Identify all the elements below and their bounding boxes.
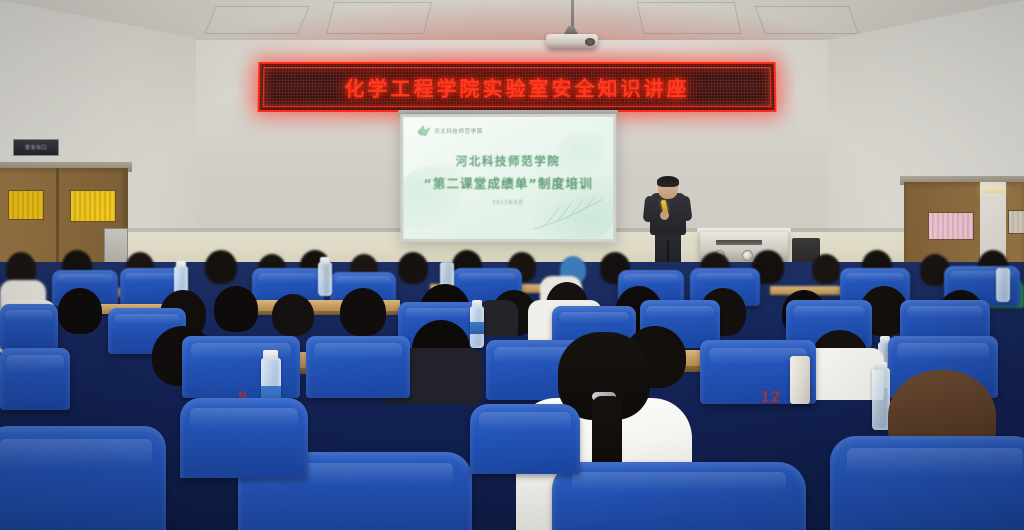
slide-logo-text: 河北科技师范学院	[434, 127, 483, 135]
auditorium-seat[interactable]	[0, 426, 166, 530]
auditorium-seat[interactable]	[180, 398, 308, 478]
right-side-glass-panel	[1008, 210, 1024, 234]
slide-title-line1: 河北科技师范学院	[403, 153, 613, 169]
water-bottle	[318, 262, 332, 296]
presenter-hand	[660, 211, 669, 220]
lectern-equipment-slot	[716, 240, 762, 245]
auditorium-seat[interactable]	[830, 436, 1024, 530]
lectern-knob	[742, 250, 753, 261]
student-head	[272, 294, 314, 336]
thermos-cup	[790, 356, 810, 404]
bottle-cap	[472, 300, 482, 307]
bottle-cap	[874, 362, 887, 370]
student-body	[478, 300, 518, 336]
slide-date: 2023年6月	[403, 199, 613, 206]
auditorium-seat[interactable]	[470, 404, 580, 474]
projection-screen: 河北科技师范学院 河北科技师范学院 “第二课堂成绩单”制度培训 2023年6月	[400, 114, 616, 242]
student-head	[398, 252, 428, 284]
right-door-glass-panel	[928, 212, 974, 240]
seat-number-12: 12	[760, 388, 781, 406]
slide-title-block: 河北科技师范学院 “第二课堂成绩单”制度培训	[403, 153, 613, 192]
exit-sign: 安全出口	[13, 139, 59, 156]
slide-title-line2: “第二课堂成绩单”制度培训	[403, 173, 613, 192]
auditorium-seat[interactable]	[0, 348, 70, 410]
bottle-cap	[176, 261, 186, 268]
bottle-cap	[263, 350, 278, 360]
slide-surface: 河北科技师范学院 河北科技师范学院 “第二课堂成绩单”制度培训 2023年6月	[403, 117, 613, 239]
presenter-hair	[657, 176, 679, 187]
projector-lens	[585, 38, 595, 46]
auditorium-seat[interactable]	[306, 336, 410, 398]
bottle-label	[470, 322, 484, 334]
student-head	[58, 288, 102, 334]
left-door-glass-panel	[8, 190, 44, 220]
student-head	[214, 286, 258, 332]
university-emblem-icon	[417, 125, 431, 136]
wall-light	[982, 186, 1004, 193]
slide-logo: 河北科技师范学院	[417, 125, 483, 136]
student-head	[812, 254, 840, 284]
student-head	[205, 250, 237, 284]
auditorium-seat[interactable]	[0, 304, 58, 350]
student-head	[340, 288, 386, 336]
auditorium-seat[interactable]	[182, 336, 300, 398]
led-banner-text: 化学工程学院实验室安全知识讲座	[260, 73, 775, 102]
bottle-cap	[320, 257, 330, 264]
auditorium-seat[interactable]	[552, 462, 806, 530]
lecture-hall-photo: 化学工程学院实验室安全知识讲座 河北科技师范学院 河北科	[0, 0, 1024, 530]
led-banner: 化学工程学院实验室安全知识讲座	[258, 62, 777, 112]
water-bottle	[996, 268, 1010, 302]
left-door-seam	[56, 168, 59, 270]
left-door-glass-panel	[70, 190, 116, 222]
exit-sign-text: 安全出口	[25, 144, 47, 151]
